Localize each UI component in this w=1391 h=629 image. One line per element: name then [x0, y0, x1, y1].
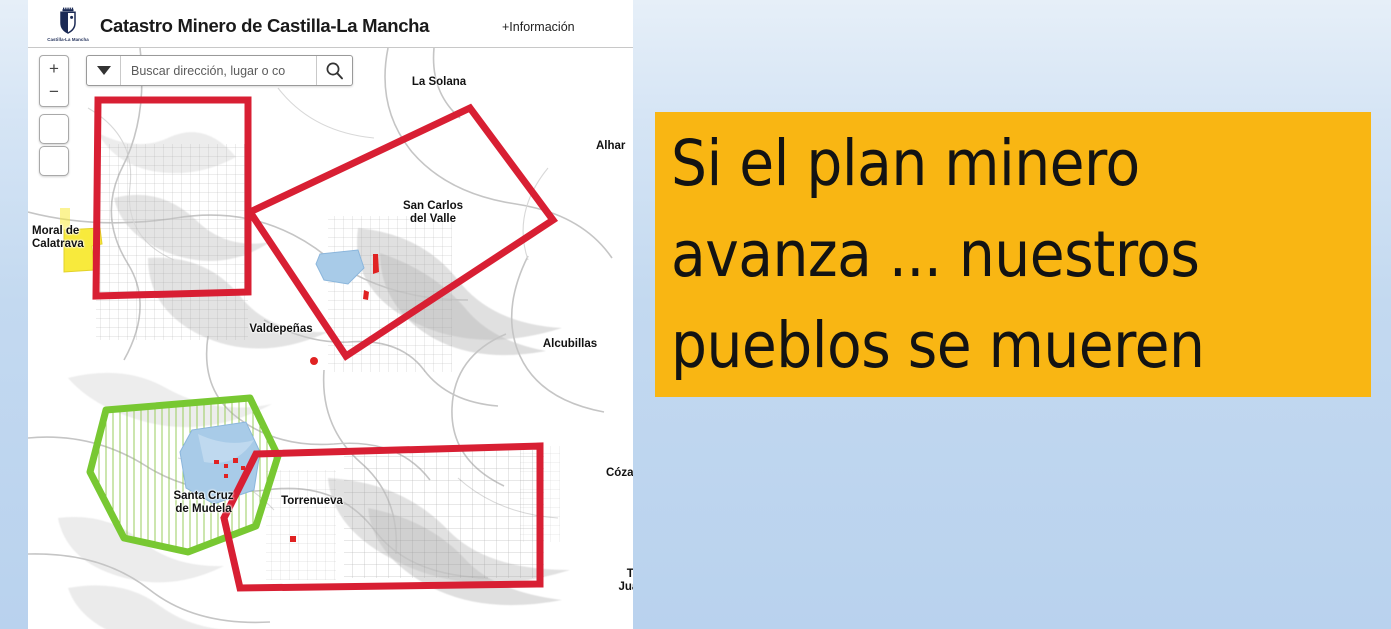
- map-graphics: [28, 48, 633, 629]
- app-header: Castilla-La Mancha Catastro Minero de Ca…: [28, 6, 633, 48]
- map-tool-button-1[interactable]: [39, 114, 69, 144]
- zoom-control-group[interactable]: + −: [39, 55, 69, 107]
- caption-line-3: pueblos se mueren: [671, 300, 1371, 391]
- search-submit-button[interactable]: [316, 56, 352, 85]
- map-canvas[interactable]: La Solana Alhar San Carlos del Valle Mor…: [28, 48, 633, 629]
- zoom-out-button[interactable]: −: [40, 81, 68, 106]
- zoom-in-button[interactable]: +: [40, 56, 68, 81]
- search-bar[interactable]: [86, 55, 353, 86]
- more-info-link[interactable]: +Información: [502, 20, 575, 34]
- crest-caption: Castilla-La Mancha: [46, 37, 90, 42]
- map-tool-button-2[interactable]: [39, 146, 69, 176]
- search-input[interactable]: [121, 56, 316, 85]
- chevron-down-icon: [97, 66, 111, 75]
- caption-line-1: Si el plan minero: [671, 118, 1371, 209]
- search-icon: [325, 61, 344, 80]
- page-title: Catastro Minero de Castilla-La Mancha: [100, 15, 429, 37]
- document-page: Castilla-La Mancha Catastro Minero de Ca…: [28, 0, 633, 629]
- caption-panel: Si el plan minero avanza ... nuestros pu…: [655, 112, 1371, 397]
- search-type-dropdown[interactable]: [87, 56, 121, 85]
- caption-line-2: avanza ... nuestros: [671, 209, 1371, 300]
- castilla-la-mancha-coat-of-arms-icon: Castilla-La Mancha: [46, 7, 90, 45]
